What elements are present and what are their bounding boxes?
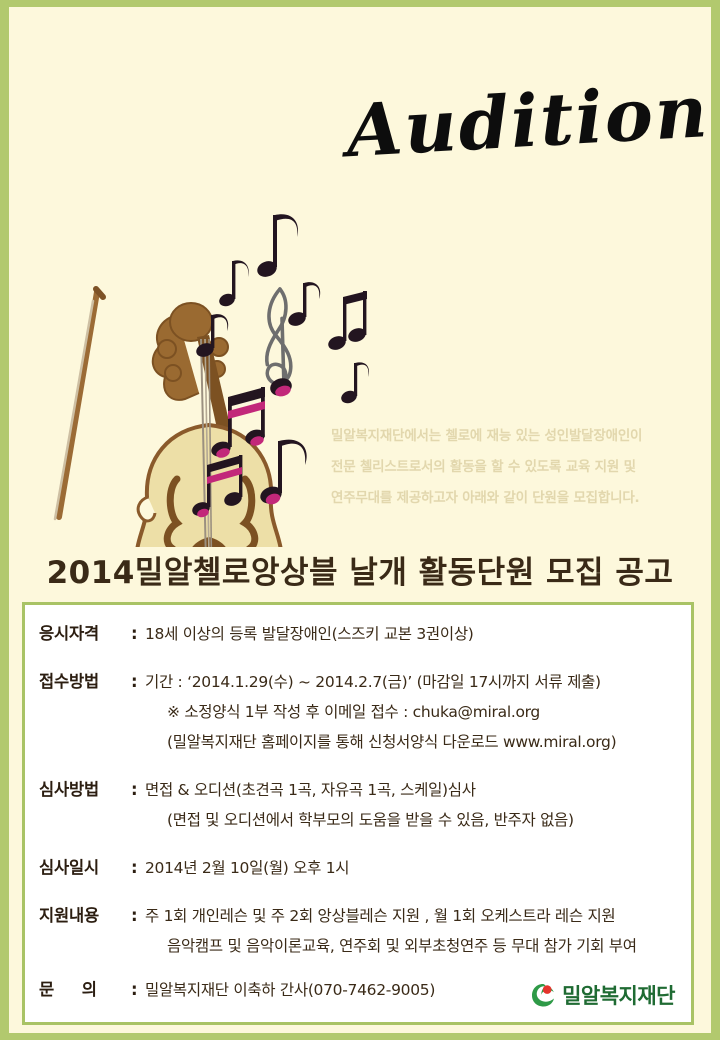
detail-label: 심사일시 — [39, 853, 131, 883]
foundation-logo: 밀알복지재단 — [529, 980, 675, 1010]
poster-root: Audition — [0, 0, 720, 1040]
detail-value-line: 기간 : ‘2014.1.29(수) ~ 2014.2.7(금)’ (마감일 1… — [145, 667, 683, 697]
detail-value-line: 2014년 2월 10일(월) 오후 1시 — [145, 853, 683, 883]
miral-foundation-logo-icon — [529, 981, 557, 1009]
cello-icon — [136, 303, 281, 547]
detail-colon: : — [131, 975, 145, 1005]
detail-row-qualification: 응시자격 : 18세 이상의 등록 발달장애인(스즈키 교본 3권이상) — [25, 619, 691, 649]
detail-row-evaluation-date: 심사일시 : 2014년 2월 10일(월) 오후 1시 — [25, 853, 691, 883]
details-box: 응시자격 : 18세 이상의 등록 발달장애인(스즈키 교본 3권이상) 접수방… — [22, 602, 694, 1025]
row-spacer — [25, 649, 691, 667]
detail-row-application: 접수방법 : 기간 : ‘2014.1.29(수) ~ 2014.2.7(금)’… — [25, 667, 691, 757]
detail-value-line: (면접 및 오디션에서 학부모의 도움을 받을 수 있음, 반주자 없음) — [145, 805, 683, 835]
detail-row-evaluation-method: 심사방법 : 면접 & 오디션(초견곡 1곡, 자유곡 1곡, 스케일)심사 (… — [25, 775, 691, 835]
row-spacer — [25, 883, 691, 901]
detail-value-line: 면접 & 오디션(초견곡 1곡, 자유곡 1곡, 스케일)심사 — [145, 775, 683, 805]
detail-label: 지원내용 — [39, 901, 131, 931]
detail-colon: : — [131, 901, 145, 931]
intro-line-3: 연주무대를 제공하고자 아래와 같이 단원을 모집합니다. — [331, 483, 711, 514]
intro-paragraph: 밀알복지재단에서는 첼로에 재능 있는 성인발달장애인이 전문 첼리스트로서의 … — [331, 421, 711, 514]
details-rows: 응시자격 : 18세 이상의 등록 발달장애인(스즈키 교본 3권이상) 접수방… — [25, 619, 691, 1022]
intro-line-2: 전문 첼리스트로서의 활동을 할 수 있도록 교육 지원 및 — [331, 452, 711, 483]
cello-illustration-svg — [49, 197, 369, 547]
detail-value: 기간 : ‘2014.1.29(수) ~ 2014.2.7(금)’ (마감일 1… — [145, 667, 683, 757]
detail-label: 접수방법 — [39, 667, 131, 697]
detail-value-line: 주 1회 개인레슨 및 주 2회 앙상블레슨 지원 , 월 1회 오케스트라 레… — [145, 901, 683, 931]
detail-value-line: 18세 이상의 등록 발달장애인(스즈키 교본 3권이상) — [145, 619, 683, 649]
intro-line-1: 밀알복지재단에서는 첼로에 재능 있는 성인발달장애인이 — [331, 421, 711, 452]
detail-colon: : — [131, 775, 145, 805]
page-title: Audition — [337, 59, 713, 189]
detail-value-line: ※ 소정양식 1부 작성 후 이메일 접수 : chuka@miral.org — [145, 697, 683, 727]
detail-colon: : — [131, 619, 145, 649]
detail-label: 심사방법 — [39, 775, 131, 805]
detail-colon: : — [131, 853, 145, 883]
foundation-name: 밀알복지재단 — [562, 980, 675, 1010]
detail-row-support: 지원내용 : 주 1회 개인레슨 및 주 2회 앙상블레슨 지원 , 월 1회 … — [25, 901, 691, 961]
detail-value-line: (밀알복지재단 홈페이지를 통해 신청서양식 다운로드 www.miral.or… — [145, 727, 683, 757]
detail-colon: : — [131, 667, 145, 697]
detail-label: 문 의 — [39, 975, 131, 1005]
main-heading: 2014밀알첼로앙상블 날개 활동단원 모집 공고 — [9, 547, 711, 592]
row-spacer — [25, 835, 691, 853]
detail-label: 응시자격 — [39, 619, 131, 649]
cello-illustration — [49, 197, 369, 547]
bow-icon — [55, 289, 103, 519]
detail-value-line: 음악캠프 및 음악이론교육, 연주회 및 외부초청연주 등 무대 참가 기회 부… — [145, 931, 683, 961]
detail-value: 18세 이상의 등록 발달장애인(스즈키 교본 3권이상) — [145, 619, 683, 649]
detail-value: 2014년 2월 10일(월) 오후 1시 — [145, 853, 683, 883]
row-spacer — [25, 961, 691, 975]
detail-value: 주 1회 개인레슨 및 주 2회 앙상블레슨 지원 , 월 1회 오케스트라 레… — [145, 901, 683, 961]
logo-mark-svg — [529, 981, 557, 1009]
detail-value: 면접 & 오디션(초견곡 1곡, 자유곡 1곡, 스케일)심사 (면접 및 오디… — [145, 775, 683, 835]
row-spacer — [25, 757, 691, 775]
